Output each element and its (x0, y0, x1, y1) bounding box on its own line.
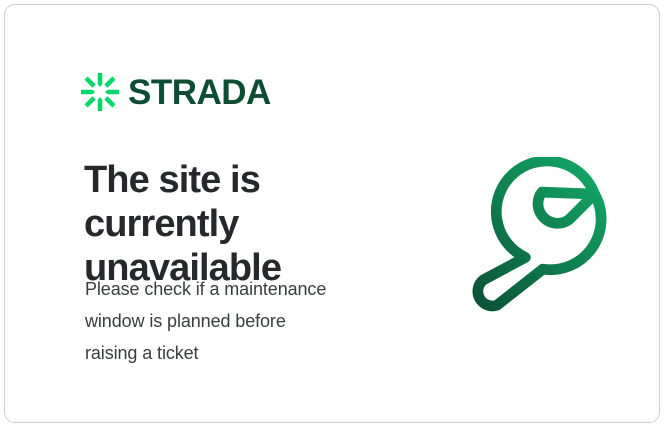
status-card: STRADA The site is currently unavailable… (4, 4, 660, 423)
description-line: Please check if a maintenance (85, 273, 405, 305)
error-page: STRADA The site is currently unavailable… (0, 0, 666, 436)
asterisk-star-icon (81, 73, 119, 111)
page-title: The site is currently unavailable (84, 158, 424, 290)
brand-wordmark: STRADA (128, 75, 271, 110)
description-line: raising a ticket (85, 337, 405, 369)
status-description: Please check if a maintenance window is … (85, 273, 405, 369)
brand-logo: STRADA (81, 73, 271, 111)
description-line: window is planned before (85, 305, 405, 337)
